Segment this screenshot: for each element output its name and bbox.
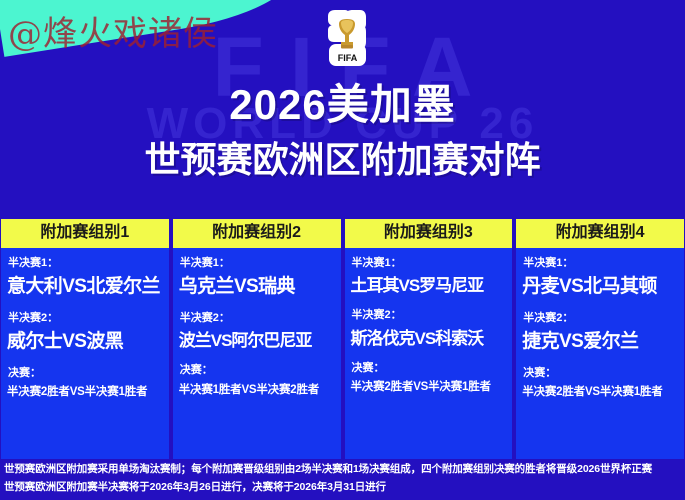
final-label: 决赛： <box>180 364 335 377</box>
playoff-groups-grid: 附加赛组别1 半决赛1： 意大利VS北爱尔兰 半决赛2： 威尔士VS波黑 决赛：… <box>0 219 685 459</box>
semifinal-2-match: 威尔士VS波黑 <box>7 331 163 353</box>
semifinal-2-label: 半决赛2： <box>180 312 335 325</box>
poster-root: FIFA WORLD CUP 26 @烽火戏诸侯 FIFA 2026美加墨 世预… <box>0 0 685 500</box>
semifinal-1-match: 乌克兰VS瑞典 <box>179 276 335 298</box>
group-title: 附加赛组别1 <box>1 219 169 248</box>
poster-headline: 2026美加墨 世预赛欧洲区附加赛对阵 <box>0 82 685 181</box>
semifinal-2-match: 斯洛伐克VS科索沃 <box>351 329 507 349</box>
semifinal-2-label: 半决赛2： <box>352 309 507 322</box>
semifinal-1-label: 半决赛1： <box>352 257 507 270</box>
group-body: 半决赛1： 丹麦VS北马其顿 半决赛2： 捷克VS爱尔兰 决赛： 半决赛2胜者V… <box>516 248 684 459</box>
group-body: 半决赛1： 土耳其VS罗马尼亚 半决赛2： 斯洛伐克VS科索沃 决赛： 半决赛2… <box>345 248 513 459</box>
svg-text:FIFA: FIFA <box>338 53 358 63</box>
final-matchup: 半决赛1胜者VS半决赛2胜者 <box>179 384 335 398</box>
fifa-world-cup-26-badge-icon: FIFA <box>325 8 369 72</box>
semifinal-2-match: 波兰VS阿尔巴尼亚 <box>179 331 335 351</box>
semifinal-2-label: 半决赛2： <box>8 312 163 325</box>
semifinal-1-label: 半决赛1： <box>523 257 678 270</box>
final-matchup: 半决赛2胜者VS半决赛1胜者 <box>351 381 507 395</box>
headline-line-2: 世预赛欧洲区附加赛对阵 <box>0 139 685 180</box>
playoff-group-card-4[interactable]: 附加赛组别4 半决赛1： 丹麦VS北马其顿 半决赛2： 捷克VS爱尔兰 决赛： … <box>516 219 684 459</box>
final-matchup: 半决赛2胜者VS半决赛1胜者 <box>7 386 163 400</box>
group-body: 半决赛1： 乌克兰VS瑞典 半决赛2： 波兰VS阿尔巴尼亚 决赛： 半决赛1胜者… <box>173 248 341 459</box>
footer-line-2: 世预赛欧洲区附加赛半决赛将于2026年3月26日进行，决赛将于2026年3月31… <box>4 481 681 494</box>
final-label: 决赛： <box>523 367 678 380</box>
group-title: 附加赛组别3 <box>345 219 513 248</box>
footer-line-1: 世预赛欧洲区附加赛采用单场淘汰赛制；每个附加赛晋级组别由2场半决赛和1场决赛组成… <box>4 463 681 476</box>
final-label: 决赛： <box>352 362 507 375</box>
final-matchup: 半决赛2胜者VS半决赛1胜者 <box>522 386 678 400</box>
semifinal-2-match: 捷克VS爱尔兰 <box>522 331 678 353</box>
playoff-group-card-2[interactable]: 附加赛组别2 半决赛1： 乌克兰VS瑞典 半决赛2： 波兰VS阿尔巴尼亚 决赛：… <box>173 219 341 459</box>
final-label: 决赛： <box>8 367 163 380</box>
group-title: 附加赛组别2 <box>173 219 341 248</box>
group-title: 附加赛组别4 <box>516 219 684 248</box>
semifinal-2-label: 半决赛2： <box>523 312 678 325</box>
headline-line-1: 2026美加墨 <box>0 82 685 127</box>
footer-notes: 世预赛欧洲区附加赛采用单场淘汰赛制；每个附加赛晋级组别由2场半决赛和1场决赛组成… <box>0 459 685 500</box>
semifinal-1-label: 半决赛1： <box>180 257 335 270</box>
semifinal-1-match: 意大利VS北爱尔兰 <box>7 276 163 298</box>
uploader-watermark: @烽火戏诸侯 <box>8 6 218 55</box>
semifinal-1-label: 半决赛1： <box>8 257 163 270</box>
semifinal-1-match: 土耳其VS罗马尼亚 <box>351 276 507 296</box>
playoff-group-card-1[interactable]: 附加赛组别1 半决赛1： 意大利VS北爱尔兰 半决赛2： 威尔士VS波黑 决赛：… <box>1 219 169 459</box>
semifinal-1-match: 丹麦VS北马其顿 <box>522 276 678 298</box>
group-body: 半决赛1： 意大利VS北爱尔兰 半决赛2： 威尔士VS波黑 决赛： 半决赛2胜者… <box>1 248 169 459</box>
playoff-group-card-3[interactable]: 附加赛组别3 半决赛1： 土耳其VS罗马尼亚 半决赛2： 斯洛伐克VS科索沃 决… <box>345 219 513 459</box>
